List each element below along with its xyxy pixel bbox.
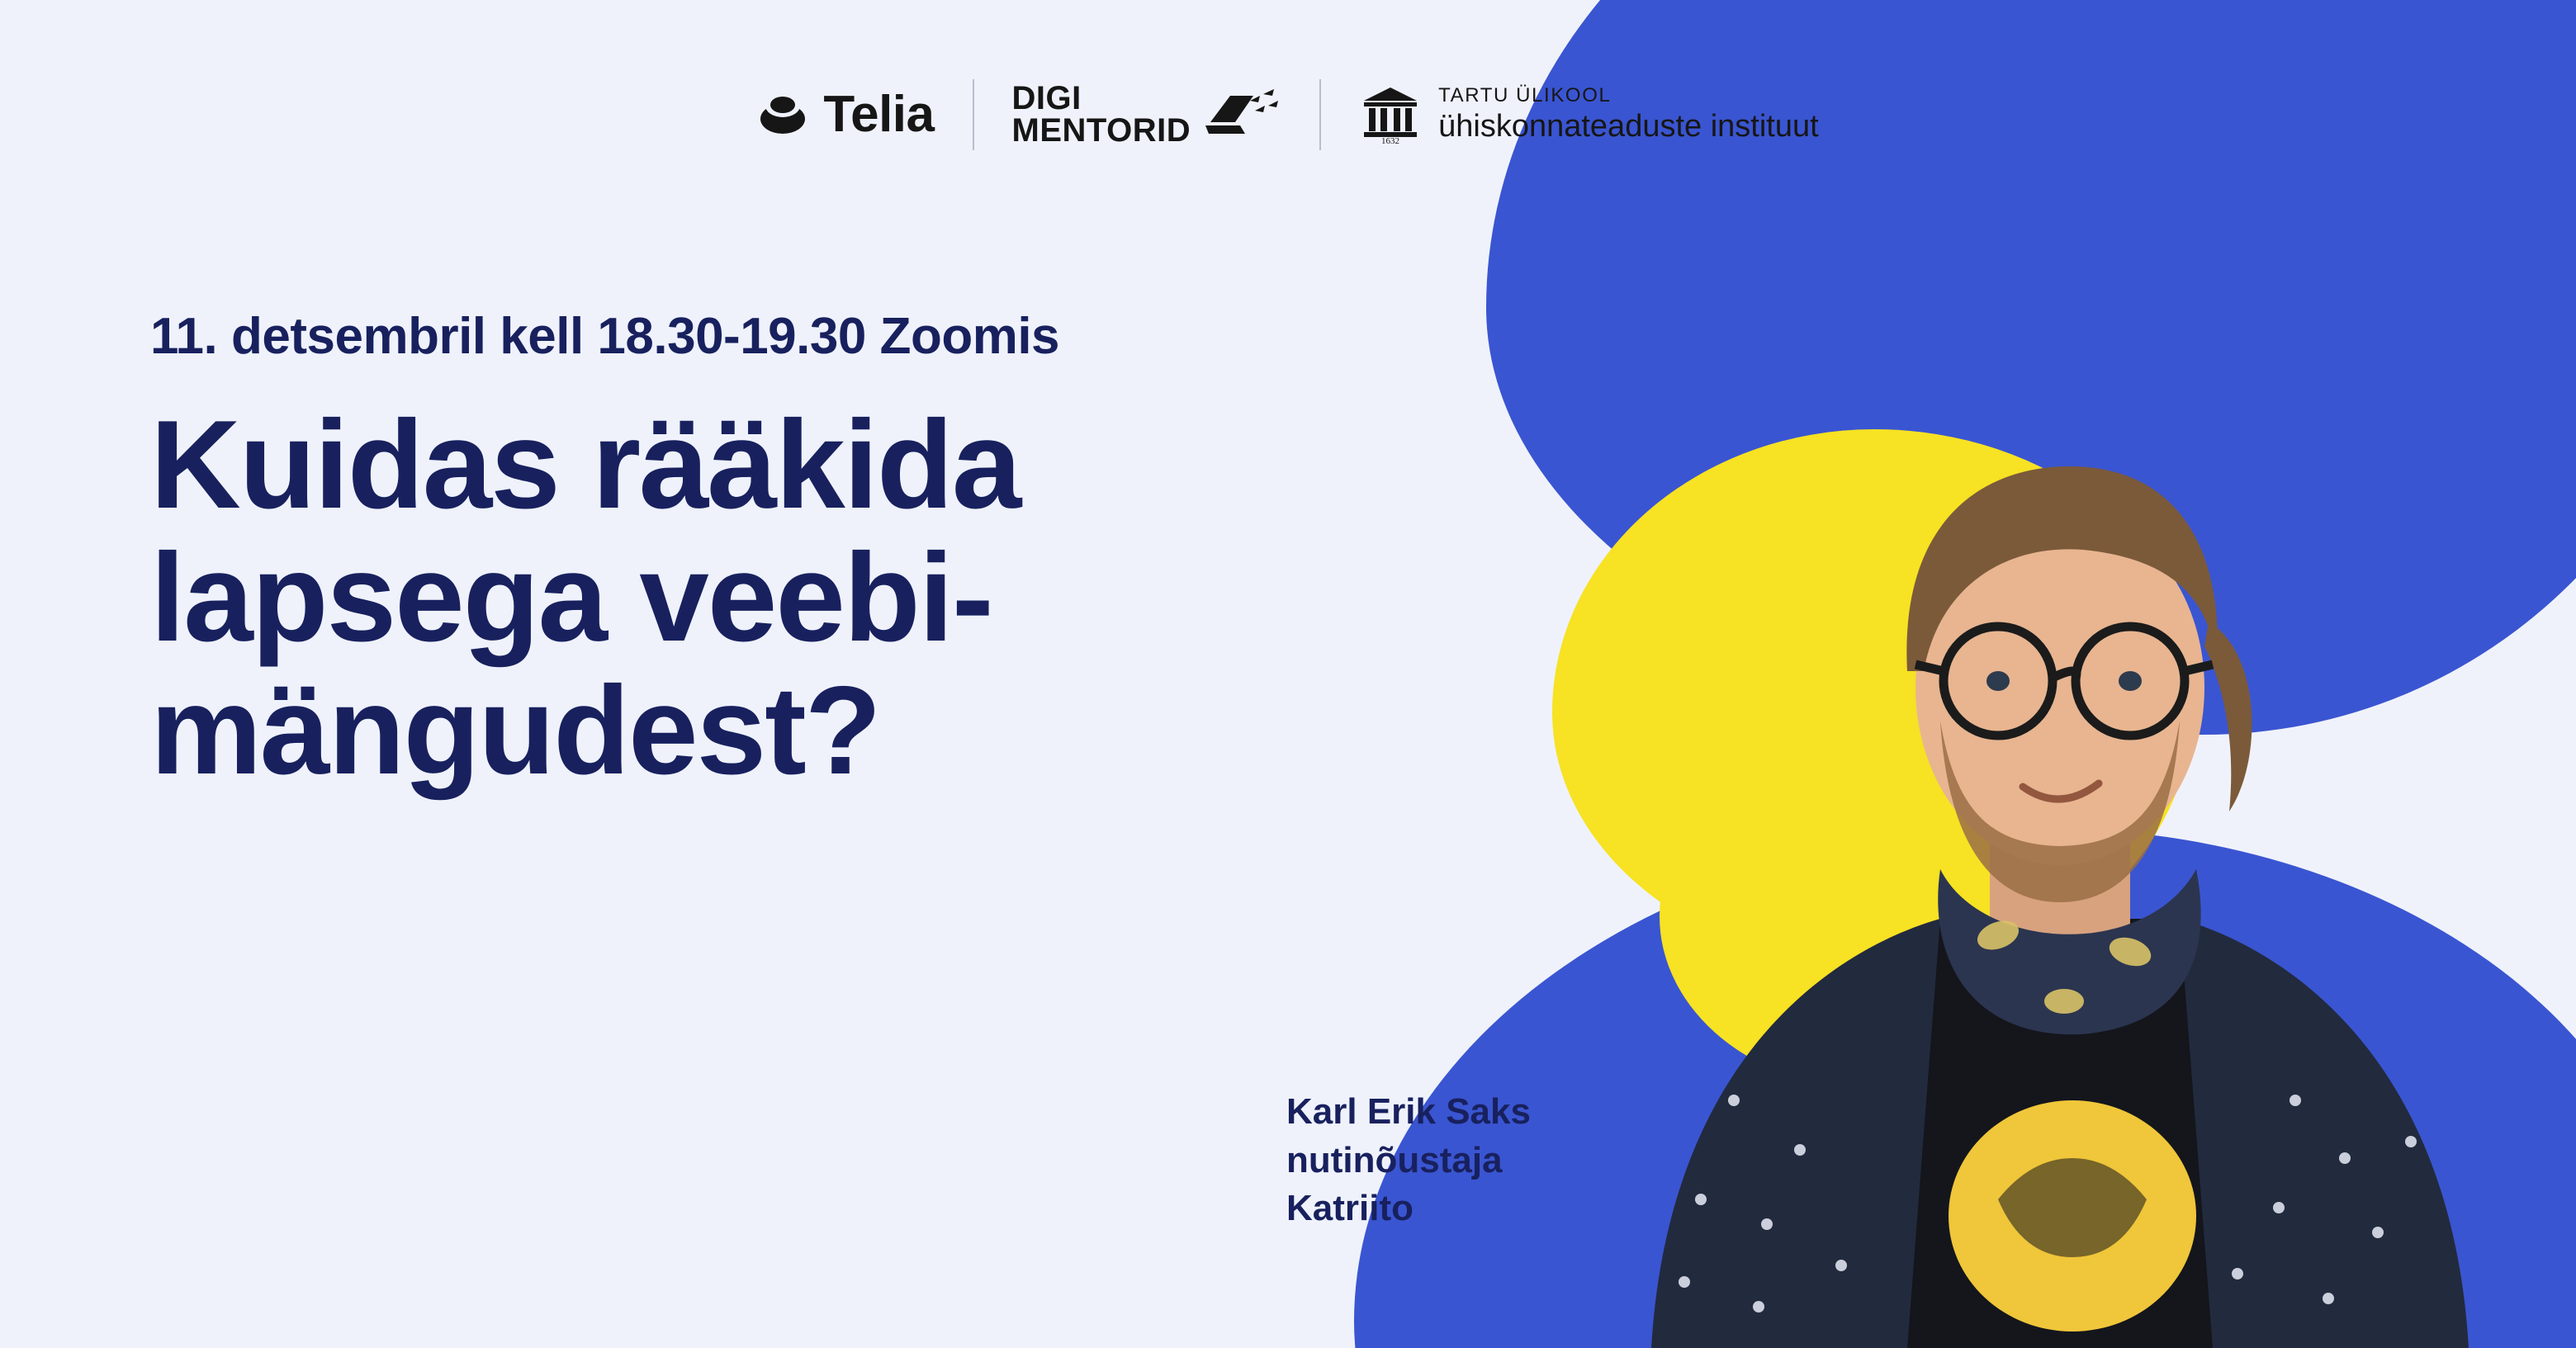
digimentorid-line1: DIGI [1012, 83, 1191, 115]
logo-bar: Telia DIGI MENTORID [0, 79, 2576, 150]
university-institute: ühiskonnateaduste instituut [1438, 108, 1819, 146]
speaker-portrait [1552, 374, 2568, 1348]
university-logo: 1632 TARTU ÜLIKOOL ühiskonnateaduste ins… [1359, 84, 1819, 145]
university-crest-icon: 1632 [1359, 84, 1422, 145]
logo-divider-2 [1319, 79, 1321, 150]
svg-text:1632: 1632 [1381, 136, 1399, 145]
event-datetime: 11. detsembril kell 18.30-19.30 Zoomis [150, 307, 1059, 366]
digimentorid-wordmark: DIGI MENTORID [1012, 83, 1191, 147]
digimentorid-line2: MENTORID [1012, 115, 1191, 147]
speaker-name: Karl Erik Saks [1286, 1088, 1531, 1137]
telia-wordmark: Telia [823, 89, 934, 140]
digimentorid-laptop-icon [1202, 86, 1281, 144]
event-headline: Kuidas rääkida lapsega veebi- mängudest? [150, 399, 1059, 797]
headline-line-2: lapsega veebi- [150, 532, 1059, 665]
telia-leaf-icon [757, 89, 808, 140]
university-name: TARTU ÜLIKOOL [1438, 84, 1819, 108]
speaker-info: Karl Erik Saks nutinõustaja Katriito [1286, 1088, 1531, 1233]
headline-line-3: mängudest? [150, 665, 1059, 797]
event-text-block: 11. detsembril kell 18.30-19.30 Zoomis K… [150, 307, 1059, 797]
headline-line-1: Kuidas rääkida [150, 399, 1059, 532]
digimentorid-logo: DIGI MENTORID [1012, 83, 1282, 147]
event-poster: Telia DIGI MENTORID [0, 0, 2576, 1348]
logo-divider-1 [973, 79, 974, 150]
speaker-role: nutinõustaja [1286, 1137, 1531, 1185]
university-wordmark: TARTU ÜLIKOOL ühiskonnateaduste instituu… [1438, 84, 1819, 145]
speaker-organisation: Katriito [1286, 1185, 1531, 1233]
telia-logo: Telia [757, 89, 934, 140]
